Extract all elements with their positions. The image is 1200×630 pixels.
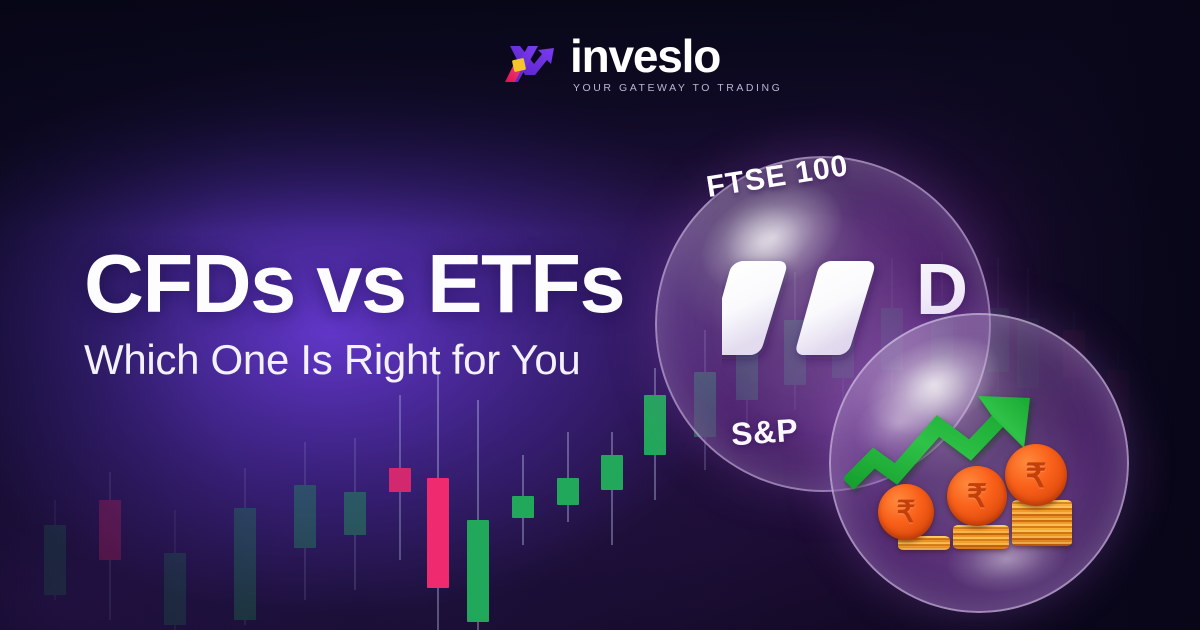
page-title: CFDs vs ETFs [84,243,704,324]
index-label-sp: S&P [730,412,800,454]
brand-logo[interactable]: inveslo YOUR GATEWAY TO TRADING [498,32,782,94]
brand-logo-text: inveslo YOUR GATEWAY TO TRADING [570,33,782,94]
page-subtitle: Which One Is Right for You [84,338,704,382]
coin-large-face: ₹ [1005,444,1067,506]
coin-medium-face: ₹ [947,466,1007,526]
brand-tagline: YOUR GATEWAY TO TRADING [573,83,782,94]
brand-name: inveslo [570,33,782,79]
headline-block: CFDs vs ETFs Which One Is Right for You [84,243,704,382]
banner-root: inveslo YOUR GATEWAY TO TRADING CFDs vs … [0,0,1200,630]
coin-stack-large-base [1012,500,1072,546]
coin-stack-medium-base [953,525,1009,549]
arrow-x-logo-icon [498,32,560,94]
coin-small-face: ₹ [878,484,934,540]
